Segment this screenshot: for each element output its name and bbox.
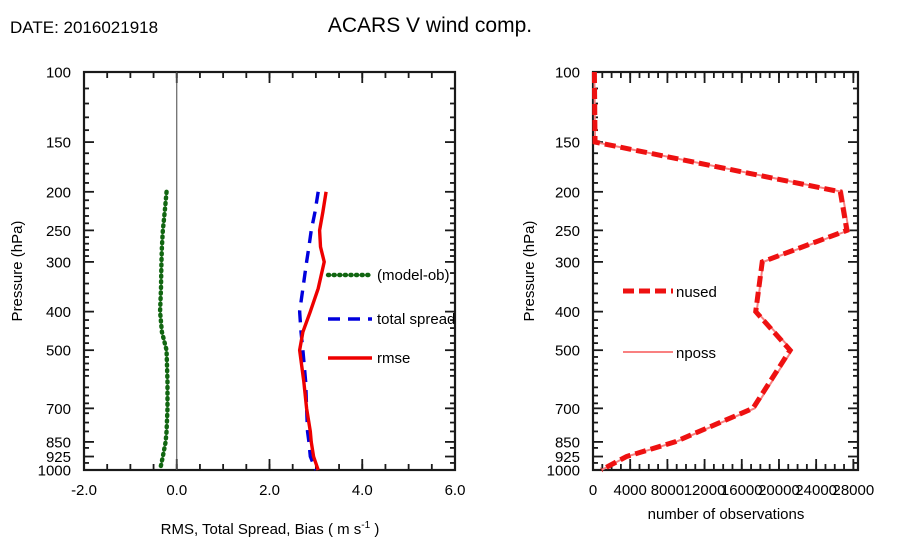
y-tick-label: 500: [555, 343, 580, 360]
y-tick-label: 200: [46, 184, 71, 201]
series-nposs-line: [594, 72, 848, 470]
legend-label-rmse: rmse: [377, 350, 410, 367]
y-tick-label: 100: [46, 65, 71, 82]
x-tick-label: 24000: [795, 482, 837, 499]
left-panel-y-axis-title: Pressure (hPa): [9, 221, 26, 322]
y-tick-label: 200: [555, 184, 580, 201]
x-tick-label: 6.0: [445, 482, 466, 499]
y-tick-label: 400: [555, 304, 580, 321]
legend-label-total-spread: total spread: [377, 311, 455, 328]
x-tick-label: 4000: [614, 482, 647, 499]
right-panel-legend: nused nposs: [623, 284, 717, 362]
right-panel-x-axis-title: number of observations: [648, 506, 805, 523]
right-panel: 1001502002503004005007008509251000 04000…: [521, 65, 874, 524]
series-rmse-line: [300, 192, 326, 470]
right-panel-y-tick-labels: 1001502002503004005007008509251000: [547, 65, 580, 480]
y-tick-label: 400: [46, 304, 71, 321]
y-tick-label: 300: [46, 254, 71, 271]
y-tick-label: 700: [555, 401, 580, 418]
x-tick-label: 28000: [832, 482, 874, 499]
right-panel-y-axis-title: Pressure (hPa): [521, 221, 538, 322]
left-panel-legend: (model-ob) total spread rmse: [328, 267, 455, 367]
x-tick-label: 20000: [758, 482, 800, 499]
legend-label-nposs: nposs: [676, 345, 716, 362]
x-tick-label: 12000: [684, 482, 726, 499]
y-tick-label: 250: [46, 223, 71, 240]
right-panel-x-tick-labels: 0400080001200016000200002400028000: [589, 482, 874, 499]
series-bias-line: [160, 192, 167, 470]
series-nused-line: [594, 72, 846, 470]
legend-label-nused: nused: [676, 284, 717, 301]
x-tick-label: 0: [589, 482, 597, 499]
y-tick-label: 500: [46, 343, 71, 360]
y-tick-label: 150: [46, 135, 71, 152]
y-tick-label: 1000: [38, 463, 71, 480]
y-tick-label: 100: [555, 65, 580, 82]
left-panel-x-tick-labels: -2.00.02.04.06.0: [71, 482, 465, 499]
right-panel-frame: [593, 72, 858, 470]
x-tick-label: -2.0: [71, 482, 97, 499]
left-panel: 1001502002503004005007008509251000 -2.00…: [9, 65, 465, 539]
y-tick-label: 700: [46, 401, 71, 418]
left-panel-x-axis-title: RMS, Total Spread, Bias ( m s-1 ): [161, 520, 380, 538]
y-tick-label: 1000: [547, 463, 580, 480]
legend-label-bias: (model-ob): [377, 267, 450, 284]
y-tick-label: 300: [555, 254, 580, 271]
x-tick-label: 8000: [651, 482, 684, 499]
plot-svg: 1001502002503004005007008509251000 -2.00…: [0, 0, 900, 560]
figure-canvas: DATE: 2016021918 ACARS V wind comp. 1001…: [0, 0, 900, 560]
x-tick-label: 2.0: [259, 482, 280, 499]
x-tick-label: 4.0: [352, 482, 373, 499]
y-tick-label: 150: [555, 135, 580, 152]
y-tick-label: 250: [555, 223, 580, 240]
right-panel-ticks: [593, 72, 858, 470]
x-tick-label: 16000: [721, 482, 763, 499]
x-tick-label: 0.0: [166, 482, 187, 499]
left-panel-y-tick-labels: 1001502002503004005007008509251000: [38, 65, 71, 480]
